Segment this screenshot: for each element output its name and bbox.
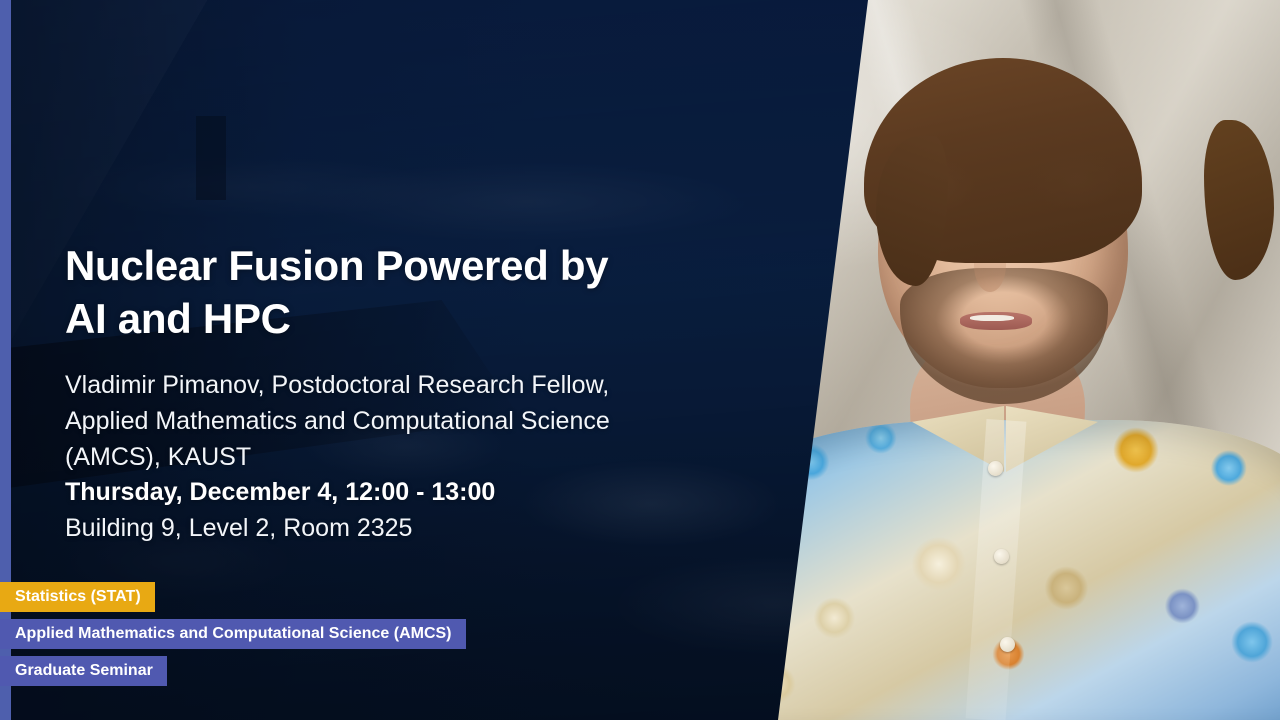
portrait-patterned-shirt [760,420,1280,720]
speaker-line-3: (AMCS), KAUST [65,440,755,476]
speaker-line-2: Applied Mathematics and Computational Sc… [65,404,755,440]
page-title: Nuclear Fusion Powered by AI and HPC [65,240,745,346]
event-datetime: Thursday, December 4, 12:00 - 13:00 [65,475,755,511]
title-line-2: AI and HPC [65,293,745,346]
tag-list: Statistics (STAT) Applied Mathematics an… [0,582,466,686]
event-details: Vladimir Pimanov, Postdoctoral Research … [65,368,755,547]
tag-row: Statistics (STAT) [0,582,466,612]
tag-amcs[interactable]: Applied Mathematics and Computational Sc… [0,619,466,649]
tag-row: Applied Mathematics and Computational Sc… [0,619,466,649]
speaker-line-1: Vladimir Pimanov, Postdoctoral Research … [65,368,755,404]
title-line-1: Nuclear Fusion Powered by [65,240,745,293]
tag-graduate-seminar[interactable]: Graduate Seminar [0,656,167,686]
seminar-poster: Nuclear Fusion Powered by AI and HPC Vla… [0,0,1280,720]
tag-statistics[interactable]: Statistics (STAT) [0,582,155,612]
portrait-mouth [960,312,1032,330]
tag-row: Graduate Seminar [0,656,466,686]
event-location: Building 9, Level 2, Room 2325 [65,511,755,547]
shirt-button [994,549,1009,564]
shirt-button [988,461,1003,476]
shirt-button [1000,637,1015,652]
